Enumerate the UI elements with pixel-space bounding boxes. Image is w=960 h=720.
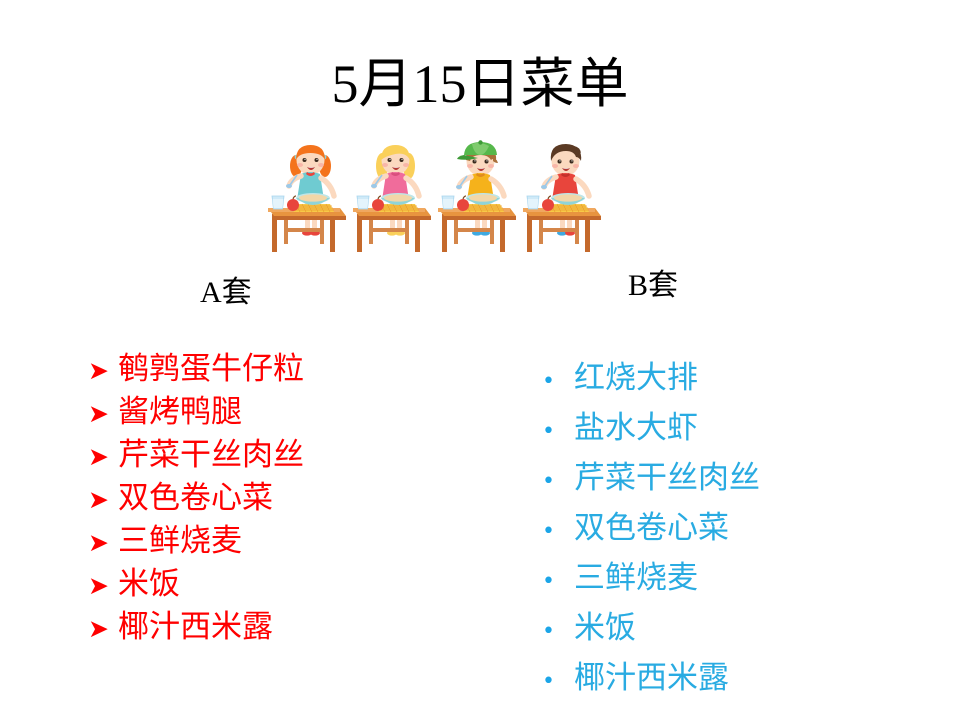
menu-item-label: 双色卷心菜 bbox=[118, 477, 273, 518]
set-b-menu-list: • 红烧大排 • 盐水大虾 • 芹菜干丝肉丝 • 双色卷心菜 • 三鲜烧麦 • … bbox=[538, 355, 760, 705]
list-item: ➤ 酱烤鸭腿 bbox=[88, 391, 304, 434]
arrow-bullet-icon: ➤ bbox=[88, 565, 118, 606]
arrow-bullet-icon: ➤ bbox=[88, 608, 118, 649]
menu-item-label: 芹菜干丝肉丝 bbox=[574, 455, 760, 501]
set-a-heading: A套 bbox=[200, 275, 252, 311]
menu-item-label: 椰汁西米露 bbox=[574, 655, 729, 701]
arrow-bullet-icon: ➤ bbox=[88, 479, 118, 520]
arrow-bullet-icon: ➤ bbox=[88, 522, 118, 563]
list-item: • 盐水大虾 bbox=[538, 405, 760, 455]
set-a-menu-list: ➤ 鹌鹑蛋牛仔粒 ➤ 酱烤鸭腿 ➤ 芹菜干丝肉丝 ➤ 双色卷心菜 ➤ 三鲜烧麦 … bbox=[88, 348, 304, 649]
list-item: ➤ 芹菜干丝肉丝 bbox=[88, 434, 304, 477]
list-item: • 红烧大排 bbox=[538, 355, 760, 405]
list-item: • 双色卷心菜 bbox=[538, 505, 760, 555]
child-3 bbox=[456, 140, 504, 235]
children-eating-svg bbox=[268, 128, 608, 268]
children-eating-illustration bbox=[268, 128, 608, 268]
menu-item-label: 米饭 bbox=[118, 563, 180, 604]
menu-item-label: 红烧大排 bbox=[574, 355, 698, 401]
list-item: • 椰汁西米露 bbox=[538, 655, 760, 705]
set-b-heading: B套 bbox=[628, 268, 678, 304]
child-4 bbox=[541, 144, 589, 236]
disc-bullet-icon: • bbox=[538, 409, 574, 455]
menu-item-label: 三鲜烧麦 bbox=[574, 555, 698, 601]
menu-item-label: 酱烤鸭腿 bbox=[118, 391, 242, 432]
menu-item-label: 双色卷心菜 bbox=[574, 505, 729, 551]
list-item: ➤ 鹌鹑蛋牛仔粒 bbox=[88, 348, 304, 391]
menu-item-label: 三鲜烧麦 bbox=[118, 520, 242, 561]
child-1 bbox=[286, 145, 334, 236]
page-title: 5月15日菜单 bbox=[0, 52, 960, 116]
list-item: • 米饭 bbox=[538, 605, 760, 655]
disc-bullet-icon: • bbox=[538, 559, 574, 605]
arrow-bullet-icon: ➤ bbox=[88, 436, 118, 477]
menu-item-label: 芹菜干丝肉丝 bbox=[118, 434, 304, 475]
menu-item-label: 米饭 bbox=[574, 605, 636, 651]
disc-bullet-icon: • bbox=[538, 459, 574, 505]
menu-slide: 5月15日菜单 bbox=[0, 0, 960, 720]
child-2 bbox=[371, 145, 419, 236]
list-item: ➤ 三鲜烧麦 bbox=[88, 520, 304, 563]
arrow-bullet-icon: ➤ bbox=[88, 350, 118, 391]
arrow-bullet-icon: ➤ bbox=[88, 393, 118, 434]
set-b-items: • 红烧大排 • 盐水大虾 • 芹菜干丝肉丝 • 双色卷心菜 • 三鲜烧麦 • … bbox=[538, 355, 760, 705]
menu-item-label: 鹌鹑蛋牛仔粒 bbox=[118, 348, 304, 389]
list-item: ➤ 椰汁西米露 bbox=[88, 606, 304, 649]
list-item: ➤ 双色卷心菜 bbox=[88, 477, 304, 520]
list-item: • 芹菜干丝肉丝 bbox=[538, 455, 760, 505]
disc-bullet-icon: • bbox=[538, 609, 574, 655]
menu-item-label: 盐水大虾 bbox=[574, 405, 698, 451]
disc-bullet-icon: • bbox=[538, 359, 574, 405]
menu-item-label: 椰汁西米露 bbox=[118, 606, 273, 647]
disc-bullet-icon: • bbox=[538, 509, 574, 555]
list-item: ➤ 米饭 bbox=[88, 563, 304, 606]
disc-bullet-icon: • bbox=[538, 659, 574, 705]
set-a-items: ➤ 鹌鹑蛋牛仔粒 ➤ 酱烤鸭腿 ➤ 芹菜干丝肉丝 ➤ 双色卷心菜 ➤ 三鲜烧麦 … bbox=[88, 348, 304, 649]
list-item: • 三鲜烧麦 bbox=[538, 555, 760, 605]
